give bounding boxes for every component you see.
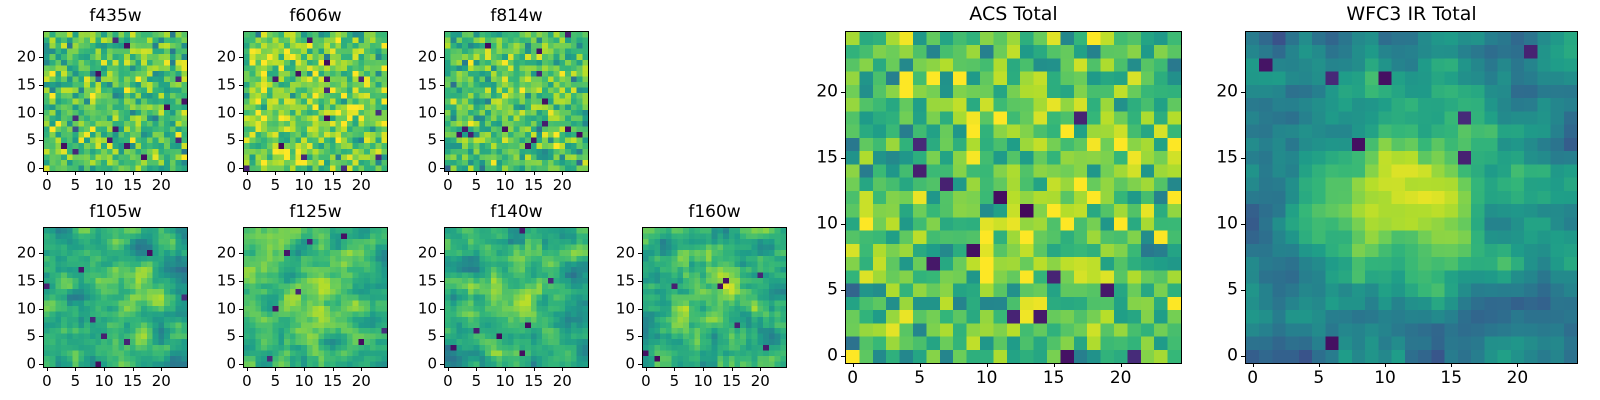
heatmap-acs-total [845,31,1182,364]
y-tickmark [239,85,243,86]
x-tick-label: 5 [1313,370,1324,387]
y-tickmark [239,140,243,141]
panel-wfc3-ir-total: WFC3 IR Total0510152005101520 [1245,5,1578,388]
y-tickmark [239,113,243,114]
x-tickmark [1253,363,1254,367]
x-tickmark [562,171,563,175]
heatmap-canvas-f125w [244,228,387,367]
y-tick-label: 20 [616,246,635,261]
y-tick-label: 5 [1227,282,1238,299]
heatmap-canvas-f105w [44,228,187,367]
y-tick-label: 5 [625,329,635,344]
y-tick-label: 10 [1216,215,1238,232]
y-tickmark [39,281,43,282]
panel-title-f105w: f105w [43,204,188,221]
x-tickmark [732,367,733,371]
y-tick-label: 15 [17,273,36,288]
y-tickmark [39,85,43,86]
x-tickmark [1451,363,1452,367]
y-tick-label: 20 [17,50,36,65]
y-tick-label: 10 [816,215,838,232]
y-tickmark [1241,290,1245,291]
y-tick-label: 20 [217,246,236,261]
y-tickmark [39,336,43,337]
y-tickmark [638,309,642,310]
x-tickmark [333,367,334,371]
x-tick-label: 10 [976,370,998,387]
x-tick-label: 10 [496,374,515,389]
x-tickmark [505,171,506,175]
x-tick-label: 0 [242,374,252,389]
x-tickmark [75,367,76,371]
y-tick-label: 0 [226,161,236,176]
x-tickmark [275,367,276,371]
x-tick-label: 5 [271,178,281,193]
heatmap-canvas-f160w [643,228,786,367]
y-tick-label: 0 [26,357,36,372]
y-tickmark [638,336,642,337]
x-tick-label: 15 [123,178,142,193]
x-tick-label: 10 [95,374,114,389]
y-tickmark [39,253,43,254]
x-tickmark [333,171,334,175]
x-tickmark [1121,363,1122,367]
y-tick-label: 20 [217,50,236,65]
x-tick-label: 5 [472,374,482,389]
y-tick-label: 5 [827,282,838,299]
panel-title-f435w: f435w [43,8,188,25]
y-tick-label: 20 [418,246,437,261]
y-tickmark [841,158,845,159]
panel-title-acs-total: ACS Total [845,5,1182,24]
y-tickmark [239,309,243,310]
y-tick-label: 10 [217,105,236,120]
x-tick-label: 5 [271,374,281,389]
y-tick-label: 10 [616,301,635,316]
x-tick-label: 0 [242,178,252,193]
y-tickmark [39,168,43,169]
heatmap-f160w [642,227,787,368]
heatmap-canvas-f140w [445,228,588,367]
y-tickmark [1241,158,1245,159]
y-tick-label: 5 [26,133,36,148]
x-tick-label: 15 [722,374,741,389]
y-tick-label: 10 [217,301,236,316]
x-tickmark [104,367,105,371]
x-tick-label: 10 [295,178,314,193]
y-tickmark [440,140,444,141]
x-tickmark [987,363,988,367]
x-tick-label: 20 [553,178,572,193]
x-tickmark [1054,363,1055,367]
heatmap-f140w [444,227,589,368]
y-tickmark [638,253,642,254]
x-tick-label: 15 [1043,370,1065,387]
y-tickmark [638,281,642,282]
x-tickmark [476,367,477,371]
x-tickmark [853,363,854,367]
y-tick-label: 20 [816,83,838,100]
x-tick-label: 20 [751,374,770,389]
heatmap-canvas-acs-total [846,32,1181,363]
panel-f140w: f140w0510152005101520 [444,201,589,392]
panel-title-f160w: f160w [642,204,787,221]
x-tick-label: 20 [152,374,171,389]
y-tickmark [440,57,444,58]
panel-title-f140w: f140w [444,204,589,221]
x-tickmark [275,171,276,175]
x-tickmark [133,367,134,371]
x-tickmark [1385,363,1386,367]
y-tick-label: 5 [427,133,437,148]
x-tickmark [161,171,162,175]
y-tickmark [440,336,444,337]
x-tickmark [75,171,76,175]
y-tick-label: 10 [418,301,437,316]
y-tickmark [39,57,43,58]
y-tickmark [239,336,243,337]
panel-f606w: f606w0510152005101520 [243,5,388,196]
y-tickmark [440,113,444,114]
y-tick-label: 0 [827,348,838,365]
y-tickmark [841,92,845,93]
y-tick-label: 10 [418,105,437,120]
y-tick-label: 15 [217,77,236,92]
x-tick-label: 10 [1374,370,1396,387]
x-tick-label: 10 [694,374,713,389]
x-tick-label: 15 [323,374,342,389]
x-tickmark [161,367,162,371]
heatmap-canvas-wfc3-ir-total [1246,32,1577,363]
x-tickmark [760,367,761,371]
x-tickmark [646,367,647,371]
panel-f814w: f814w0510152005101520 [444,5,589,196]
heatmap-f814w [444,31,589,172]
x-tickmark [104,171,105,175]
x-tick-label: 0 [1247,370,1258,387]
x-tick-label: 15 [524,178,543,193]
y-tick-label: 20 [1216,83,1238,100]
y-tickmark [1241,92,1245,93]
x-tick-label: 20 [352,374,371,389]
heatmap-f606w [243,31,388,172]
x-tickmark [534,367,535,371]
y-tick-label: 0 [427,161,437,176]
y-tickmark [39,364,43,365]
y-tickmark [440,85,444,86]
y-tick-label: 20 [17,246,36,261]
y-tick-label: 0 [226,357,236,372]
x-tickmark [505,367,506,371]
panel-title-f606w: f606w [243,8,388,25]
y-tick-label: 5 [26,329,36,344]
panel-title-f125w: f125w [243,204,388,221]
x-tickmark [562,367,563,371]
x-tickmark [361,171,362,175]
y-tick-label: 20 [418,50,437,65]
x-tickmark [1517,363,1518,367]
y-tick-label: 15 [17,77,36,92]
y-tickmark [440,364,444,365]
x-tickmark [674,367,675,371]
x-tick-label: 10 [496,178,515,193]
x-tick-label: 15 [323,178,342,193]
x-tickmark [703,367,704,371]
y-tickmark [1241,224,1245,225]
y-tickmark [440,168,444,169]
x-tick-label: 20 [553,374,572,389]
x-tick-label: 20 [352,178,371,193]
y-tickmark [841,224,845,225]
y-tickmark [239,57,243,58]
heatmap-canvas-f814w [445,32,588,171]
x-tickmark [361,367,362,371]
x-tick-label: 15 [123,374,142,389]
heatmap-f125w [243,227,388,368]
heatmap-f435w [43,31,188,172]
x-tick-label: 0 [42,374,52,389]
panel-f435w: f435w0510152005101520 [43,5,188,196]
y-tick-label: 15 [616,273,635,288]
panel-acs-total: ACS Total0510152005101520 [845,5,1182,388]
x-tickmark [476,171,477,175]
y-tickmark [39,113,43,114]
x-tick-label: 0 [443,374,453,389]
y-tick-label: 15 [816,149,838,166]
x-tick-label: 15 [1440,370,1462,387]
x-tick-label: 5 [670,374,680,389]
x-tickmark [133,171,134,175]
panel-f105w: f105w0510152005101520 [43,201,188,392]
y-tick-label: 10 [17,105,36,120]
y-tick-label: 0 [26,161,36,176]
y-tickmark [440,309,444,310]
x-tick-label: 0 [641,374,651,389]
y-tickmark [841,290,845,291]
y-tick-label: 5 [226,133,236,148]
x-tick-label: 0 [443,178,453,193]
y-tick-label: 5 [427,329,437,344]
y-tickmark [39,309,43,310]
x-tick-label: 5 [71,178,81,193]
y-tick-label: 15 [1216,149,1238,166]
x-tick-label: 20 [1110,370,1132,387]
y-tickmark [239,168,243,169]
x-tick-label: 20 [1507,370,1529,387]
x-tickmark [304,367,305,371]
heatmap-canvas-f606w [244,32,387,171]
x-tick-label: 10 [295,374,314,389]
x-tickmark [1319,363,1320,367]
y-tick-label: 15 [418,273,437,288]
x-tick-label: 0 [42,178,52,193]
x-tickmark [47,367,48,371]
heatmap-f105w [43,227,188,368]
x-tickmark [534,171,535,175]
panel-f125w: f125w0510152005101520 [243,201,388,392]
heatmap-wfc3-ir-total [1245,31,1578,364]
x-tick-label: 5 [71,374,81,389]
y-tickmark [841,356,845,357]
y-tick-label: 0 [1227,348,1238,365]
y-tickmark [39,140,43,141]
panel-f160w: f160w0510152005101520 [642,201,787,392]
x-tickmark [47,171,48,175]
y-tickmark [239,281,243,282]
figure-canvas: f435w0510152005101520f606w05101520051015… [0,0,1600,400]
y-tickmark [239,364,243,365]
y-tickmark [440,253,444,254]
y-tick-label: 0 [427,357,437,372]
y-tickmark [638,364,642,365]
y-tickmark [1241,356,1245,357]
x-tick-label: 20 [152,178,171,193]
x-tickmark [448,171,449,175]
y-tick-label: 15 [418,77,437,92]
x-tick-label: 5 [914,370,925,387]
y-tick-label: 0 [625,357,635,372]
x-tickmark [304,171,305,175]
panel-title-wfc3-ir-total: WFC3 IR Total [1245,5,1578,24]
x-tick-label: 0 [847,370,858,387]
x-tickmark [448,367,449,371]
x-tickmark [920,363,921,367]
y-tickmark [239,253,243,254]
y-tick-label: 10 [17,301,36,316]
y-tick-label: 15 [217,273,236,288]
x-tick-label: 10 [95,178,114,193]
x-tickmark [247,171,248,175]
y-tickmark [440,281,444,282]
panel-title-f814w: f814w [444,8,589,25]
x-tick-label: 15 [524,374,543,389]
x-tickmark [247,367,248,371]
y-tick-label: 5 [226,329,236,344]
heatmap-canvas-f435w [44,32,187,171]
x-tick-label: 5 [472,178,482,193]
